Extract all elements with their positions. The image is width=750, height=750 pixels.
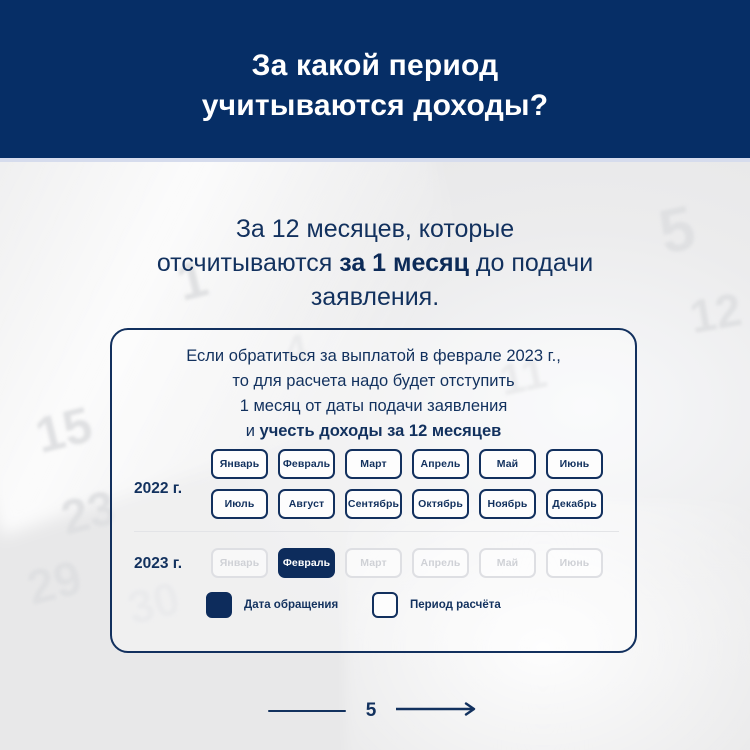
page-number: 5 [364, 700, 378, 722]
intro-line-1: За 12 месяцев, которые [60, 212, 690, 246]
year-label-2023: 2023 г. [134, 555, 182, 573]
month-chip: Январь [211, 548, 268, 578]
legend-swatch-filled-icon [206, 592, 232, 618]
background-number: 29 [23, 554, 86, 613]
header-banner: За какой период учитываются доходы? [0, 0, 750, 158]
card-description: Если обратиться за выплатой в феврале 20… [112, 344, 635, 444]
legend-swatch-outline-icon [372, 592, 398, 618]
month-row-2022-first-half: ЯнварьФевральМартАпрельМайИюнь [211, 449, 603, 479]
intro-text: За 12 месяцев, которые отсчитываются за … [60, 212, 690, 314]
header-underline [0, 158, 750, 162]
month-chip: Август [278, 489, 335, 519]
month-chip: Июнь [546, 548, 603, 578]
month-chip: Декабрь [546, 489, 603, 519]
background-number: 15 [31, 399, 97, 461]
arrow-right-icon[interactable] [396, 702, 482, 721]
month-chip: Октябрь [412, 489, 469, 519]
card-line-1: Если обратиться за выплатой в феврале 20… [112, 344, 635, 369]
page-title: За какой период учитываются доходы? [0, 46, 750, 126]
legend-item-calculation-period: Период расчёта [372, 592, 501, 618]
intro-line-3: заявления. [60, 280, 690, 314]
intro-line-2-a: отсчитываются [157, 249, 339, 277]
month-chip: Февраль [278, 449, 335, 479]
legend-item-application-date: Дата обращения [206, 592, 338, 618]
infographic-page: 512111415232930 За какой период учитываю… [0, 0, 750, 750]
month-chip: Июль [211, 489, 268, 519]
card-line-4: и учесть доходы за 12 месяцев [112, 419, 635, 444]
card-line-3: 1 месяц от даты подачи заявления [112, 394, 635, 419]
month-chip: Март [345, 548, 402, 578]
card-line-2: то для расчета надо будет отступить [112, 369, 635, 394]
month-chip: Март [345, 449, 402, 479]
month-chip: Апрель [412, 548, 469, 578]
pagination: 5 [268, 700, 482, 722]
card-line-4-a: и [246, 422, 260, 440]
intro-line-2: отсчитываются за 1 месяц до подачи [60, 246, 690, 280]
month-row-2023: ЯнварьФевральМартАпрельМайИюнь [211, 548, 603, 578]
month-chip: Февраль [278, 548, 335, 578]
month-chip: Май [479, 548, 536, 578]
month-chip: Апрель [412, 449, 469, 479]
month-chip: Январь [211, 449, 268, 479]
background-number: 12 [686, 286, 744, 340]
page-title-line-2: учитываются доходы? [0, 86, 750, 126]
month-chip: Май [479, 449, 536, 479]
footer: 5 [0, 700, 750, 740]
month-chip: Июнь [546, 449, 603, 479]
intro-emphasis: за 1 месяц [339, 249, 469, 277]
legend-label-calculation-period: Период расчёта [410, 599, 501, 611]
card-line-4-emphasis: учесть доходы за 12 месяцев [260, 422, 502, 440]
pagination-line [268, 710, 346, 712]
month-row-2022-second-half: ИюльАвгустСентябрьОктябрьНоябрьДекабрь [211, 489, 603, 519]
month-chip: Сентябрь [345, 489, 402, 519]
year-label-2022: 2022 г. [134, 480, 182, 498]
intro-line-2-c: до подачи [469, 249, 593, 277]
example-card: Если обратиться за выплатой в феврале 20… [110, 328, 637, 653]
month-chip: Ноябрь [479, 489, 536, 519]
legend-label-application-date: Дата обращения [244, 599, 338, 611]
year-divider [134, 531, 619, 532]
page-title-line-1: За какой период [252, 49, 499, 82]
